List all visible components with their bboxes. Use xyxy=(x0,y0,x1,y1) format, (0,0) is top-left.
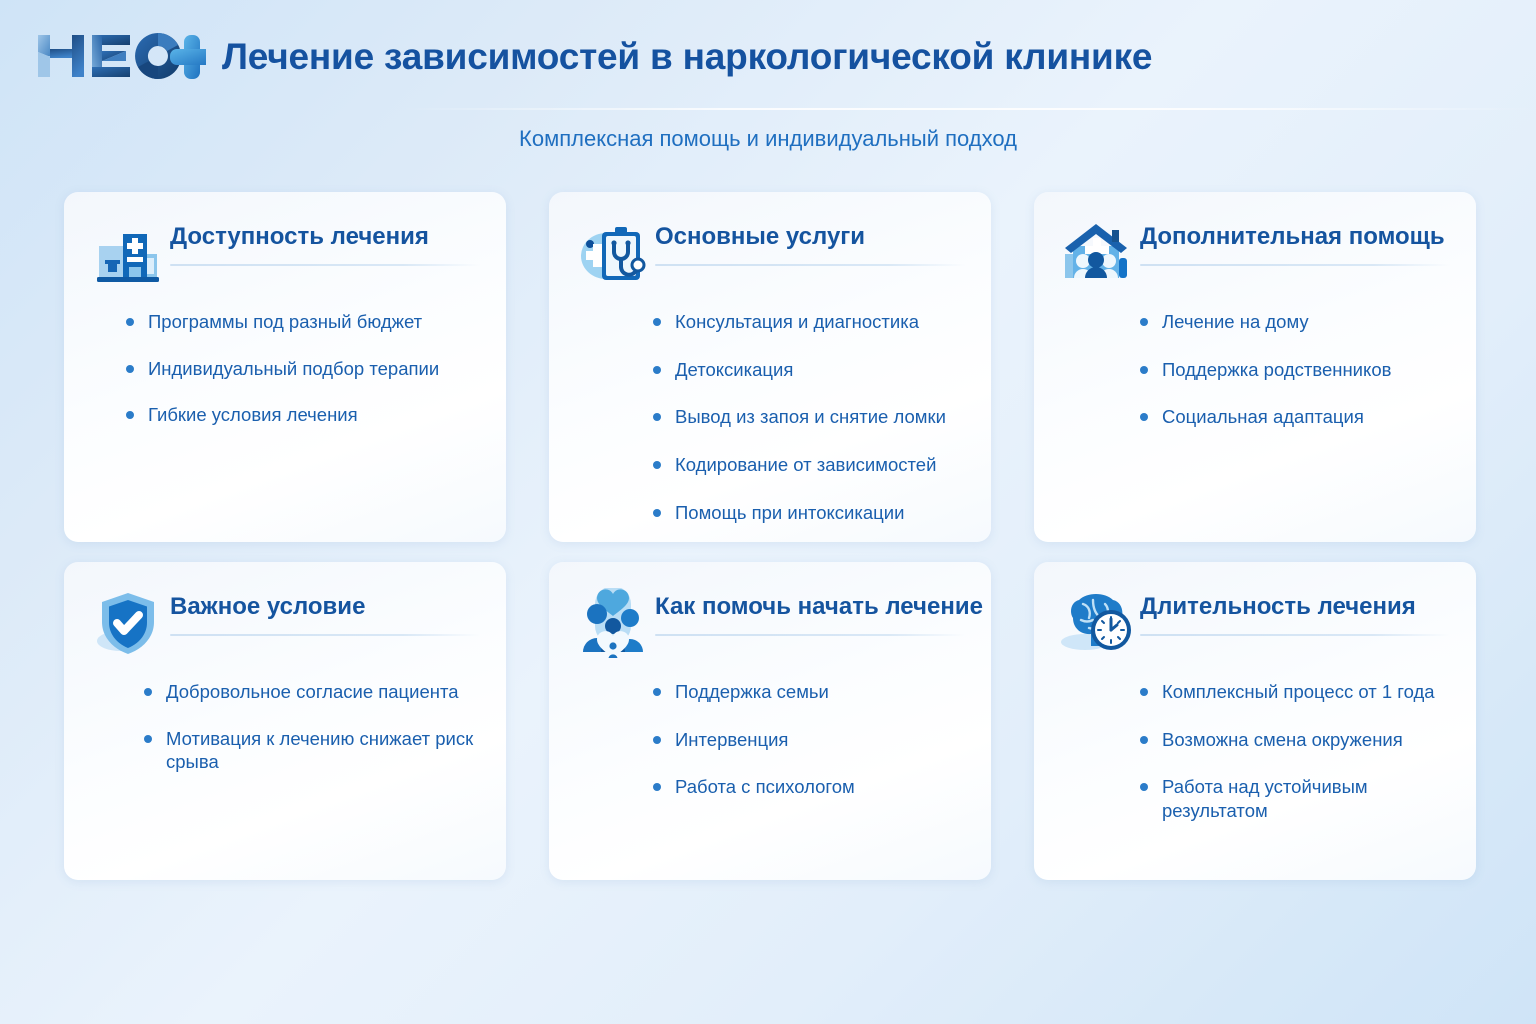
card-title-divider xyxy=(170,634,480,636)
brain-clock-icon xyxy=(1056,584,1140,662)
card-headtext: Основные услуги xyxy=(655,214,965,266)
list-item: Программы под разный бюджет xyxy=(126,310,480,334)
infographic-page: Лечение зависимостей в наркологической к… xyxy=(0,0,1536,1024)
card-header: Основные услуги xyxy=(571,214,965,292)
neo-plus-logo xyxy=(34,25,206,87)
list-item: Гибкие условия лечения xyxy=(126,403,480,427)
cards-grid: Доступность лечения Программы под разный… xyxy=(64,192,1476,880)
card-dopolnitelnaya-pomoshch[interactable]: Дополнительная помощь Лечение на дому По… xyxy=(1034,192,1476,542)
list-item: Добровольное согласие пациента xyxy=(144,680,480,704)
card-title: Доступность лечения xyxy=(170,224,480,250)
card-title: Как помочь начать лечение xyxy=(655,594,965,620)
card-title-divider xyxy=(655,634,965,636)
card-header: Важное условие xyxy=(86,584,480,662)
card-title: Дополнительная помощь xyxy=(1140,224,1450,250)
list-item: Вывод из запоя и снятие ломки xyxy=(653,405,965,429)
list-item: Возможна смена окружения xyxy=(1140,728,1450,752)
card-list: Добровольное согласие пациента Мотивация… xyxy=(86,680,480,774)
card-title: Основные услуги xyxy=(655,224,965,250)
card-list: Программы под разный бюджет Индивидуальн… xyxy=(86,310,480,427)
card-headtext: Дополнительная помощь xyxy=(1140,214,1450,266)
card-list: Лечение на дому Поддержка родственников … xyxy=(1056,310,1450,429)
page-subtitle: Комплексная помощь и индивидуальный подх… xyxy=(0,126,1536,152)
family-heart-icon xyxy=(571,584,655,662)
list-item: Работа с психологом xyxy=(653,775,965,799)
list-item: Поддержка семьи xyxy=(653,680,965,704)
shield-check-icon xyxy=(86,584,170,662)
card-title-divider xyxy=(1140,634,1450,636)
list-item: Мотивация к лечению снижает риск срыва xyxy=(144,727,480,774)
list-item: Работа над устойчивым результатом xyxy=(1140,775,1450,822)
card-title: Важное условие xyxy=(170,594,480,620)
card-title-divider xyxy=(1140,264,1450,266)
card-kak-pomoch-nachat-lechenie[interactable]: Как помочь начать лечение Поддержка семь… xyxy=(549,562,991,880)
card-vazhnoe-uslovie[interactable]: Важное условие Добровольное согласие пац… xyxy=(64,562,506,880)
list-item: Поддержка родственников xyxy=(1140,358,1450,382)
card-headtext: Длительность лечения xyxy=(1140,584,1450,636)
list-item: Кодирование от зависимостей xyxy=(653,453,965,477)
card-list: Поддержка семьи Интервенция Работа с пси… xyxy=(571,680,965,799)
header-divider xyxy=(400,108,1536,110)
list-item: Индивидуальный подбор терапии xyxy=(126,357,480,381)
card-headtext: Доступность лечения xyxy=(170,214,480,266)
card-title: Длительность лечения xyxy=(1140,594,1450,620)
list-item: Комплексный процесс от 1 года xyxy=(1140,680,1450,704)
list-item: Интервенция xyxy=(653,728,965,752)
card-headtext: Важное условие xyxy=(170,584,480,636)
card-header: Как помочь начать лечение xyxy=(571,584,965,662)
card-header: Длительность лечения xyxy=(1056,584,1450,662)
page-header: Лечение зависимостей в наркологической к… xyxy=(0,0,1536,112)
card-dostupnost-lecheniya[interactable]: Доступность лечения Программы под разный… xyxy=(64,192,506,542)
list-item: Социальная адаптация xyxy=(1140,405,1450,429)
card-dlitelnost-lecheniya[interactable]: Длительность лечения Комплексный процесс… xyxy=(1034,562,1476,880)
clipboard-stethoscope-icon xyxy=(571,214,655,292)
card-title-divider xyxy=(655,264,965,266)
card-title-divider xyxy=(170,264,480,266)
list-item: Детоксикация xyxy=(653,358,965,382)
list-item: Помощь при интоксикации xyxy=(653,501,965,525)
card-osnovnye-uslugi[interactable]: Основные услуги Консультация и диагности… xyxy=(549,192,991,542)
card-header: Дополнительная помощь xyxy=(1056,214,1450,292)
hospital-building-icon xyxy=(86,214,170,292)
card-list: Комплексный процесс от 1 года Возможна с… xyxy=(1056,680,1450,823)
list-item: Консультация и диагностика xyxy=(653,310,965,334)
house-family-cross-icon xyxy=(1056,214,1140,292)
card-list: Консультация и диагностика Детоксикация … xyxy=(571,310,965,524)
card-headtext: Как помочь начать лечение xyxy=(655,584,965,636)
page-title: Лечение зависимостей в наркологической к… xyxy=(222,38,1152,75)
card-header: Доступность лечения xyxy=(86,214,480,292)
neo-plus-logo-icon xyxy=(34,25,206,87)
list-item: Лечение на дому xyxy=(1140,310,1450,334)
